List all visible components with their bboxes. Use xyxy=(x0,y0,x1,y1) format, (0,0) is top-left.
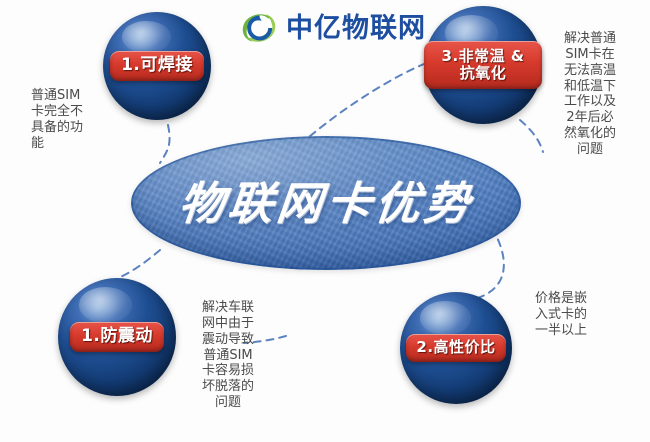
node-temperature[interactable]: 3.非常温 & 抗氧化 xyxy=(424,6,542,124)
badge-label-shock: 1.防震动 xyxy=(70,322,164,352)
center-ellipse: 物联网卡优势 xyxy=(131,136,521,270)
badge-label-price: 2.高性价比 xyxy=(406,334,505,361)
connector-note-temperature xyxy=(520,120,543,152)
note-weldable: 普通SIM 卡完全不 具备的功 能 xyxy=(31,88,115,151)
node-weldable[interactable]: 1.可焊接 xyxy=(103,12,211,120)
badge-label-weldable: 1.可焊接 xyxy=(110,51,204,81)
node-price[interactable]: 2.高性价比 xyxy=(400,292,512,404)
note-price: 价格是嵌 入式卡的 一半以上 xyxy=(516,291,606,339)
infographic-canvas: 中亿物联网 物联网卡优势 1.可焊接 3.非常温 & 抗氧化 1.防震动 2.高… xyxy=(0,0,650,442)
note-temperature: 解决普通 SIM卡在 无法高温 和低温下 工作以及 2年后必 然氧化的 问题 xyxy=(545,31,635,158)
center-title: 物联网卡优势 xyxy=(177,181,476,226)
node-shock[interactable]: 1.防震动 xyxy=(58,278,176,396)
connector-weldable xyxy=(160,125,170,163)
swirl-logo-icon xyxy=(238,7,280,49)
connector-shock xyxy=(118,250,160,278)
brand-name: 中亿物联网 xyxy=(286,15,426,42)
badge-label-temperature: 3.非常温 & 抗氧化 xyxy=(424,41,542,90)
note-shock: 解决车联 网中由于 震动导致 普通SIM 卡容易损 坏脱落的 问题 xyxy=(186,300,270,411)
brand-logo: 中亿物联网 xyxy=(238,6,426,50)
